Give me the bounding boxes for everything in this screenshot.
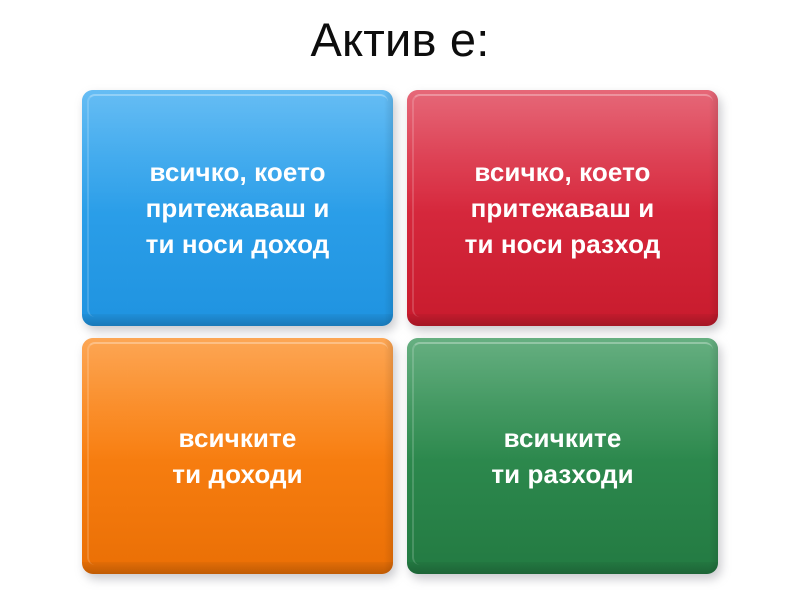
card-bottom-lip — [407, 314, 718, 326]
answer-card-label: всичко, което притежаваш и ти носи доход — [134, 154, 342, 262]
answer-card-label: всичките ти доходи — [160, 420, 314, 492]
answer-card-label: всичко, което притежаваш и ти носи разхо… — [453, 154, 673, 262]
card-right-edge-shading — [709, 338, 718, 574]
answer-card-asset-income[interactable]: всичко, което притежаваш и ти носи доход — [82, 90, 393, 326]
card-right-edge-shading — [709, 90, 718, 326]
card-right-edge-shading — [384, 90, 393, 326]
answer-card-all-expenses[interactable]: всичките ти разходи — [407, 338, 718, 574]
card-bottom-lip — [407, 562, 718, 574]
answer-card-asset-expense[interactable]: всичко, което притежаваш и ти носи разхо… — [407, 90, 718, 326]
card-right-edge-shading — [384, 338, 393, 574]
quiz-slide: Актив е: всичко, което притежаваш и ти н… — [0, 0, 800, 600]
answer-card-grid: всичко, което притежаваш и ти носи доход… — [82, 90, 718, 562]
card-bottom-lip — [82, 314, 393, 326]
answer-card-all-incomes[interactable]: всичките ти доходи — [82, 338, 393, 574]
page-title: Актив е: — [0, 12, 800, 68]
answer-card-label: всичките ти разходи — [479, 420, 645, 492]
card-bottom-lip — [82, 562, 393, 574]
